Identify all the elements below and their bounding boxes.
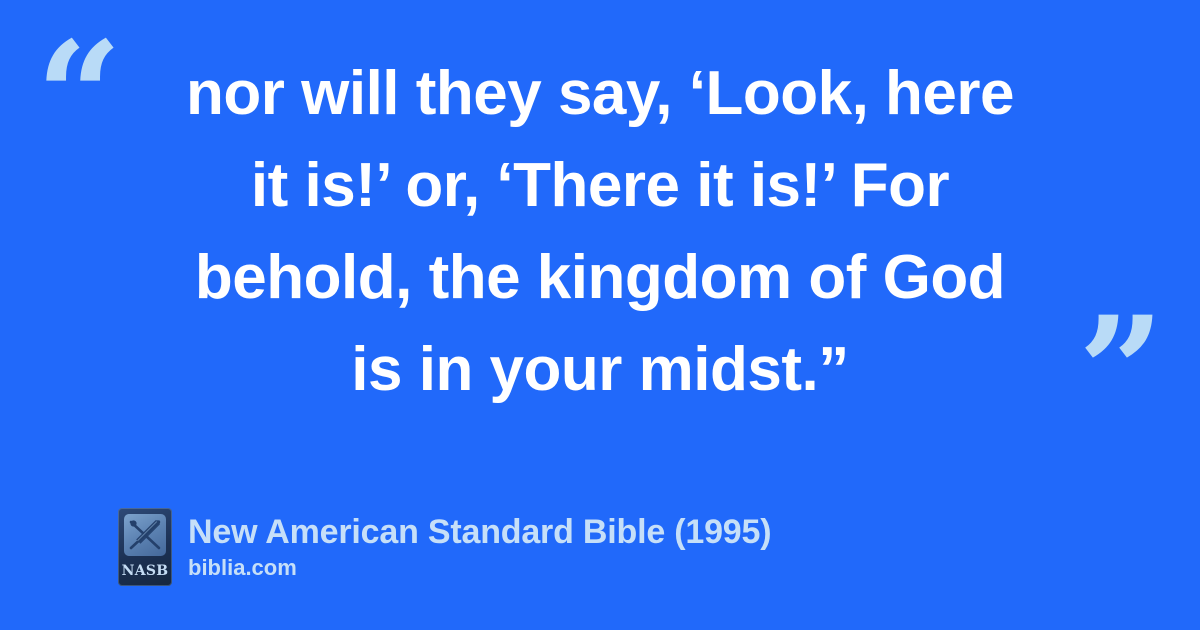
- quote-text-block: nor will they say, ‘Look, here it is!’ o…: [90, 48, 1110, 416]
- nasb-sword-cross-icon: [124, 514, 166, 556]
- attribution-text: New American Standard Bible (1995) bibli…: [188, 512, 771, 582]
- nasb-logo: NASB: [118, 508, 172, 586]
- quote-line: is in your midst.”: [90, 324, 1110, 416]
- closing-quote-mark-icon: ”: [1078, 297, 1164, 447]
- source-website[interactable]: biblia.com: [188, 554, 771, 582]
- quote-line: it is!’ or, ‘There it is!’ For: [90, 140, 1110, 232]
- quote-line: nor will they say, ‘Look, here: [90, 48, 1110, 140]
- quote-line: behold, the kingdom of God: [90, 232, 1110, 324]
- nasb-logo-wordmark: NASB: [118, 564, 172, 578]
- attribution-footer: NASB New American Standard Bible (1995) …: [118, 508, 771, 586]
- verse-quote-card: “ nor will they say, ‘Look, here it is!’…: [0, 0, 1200, 630]
- bible-translation-name: New American Standard Bible (1995): [188, 512, 771, 552]
